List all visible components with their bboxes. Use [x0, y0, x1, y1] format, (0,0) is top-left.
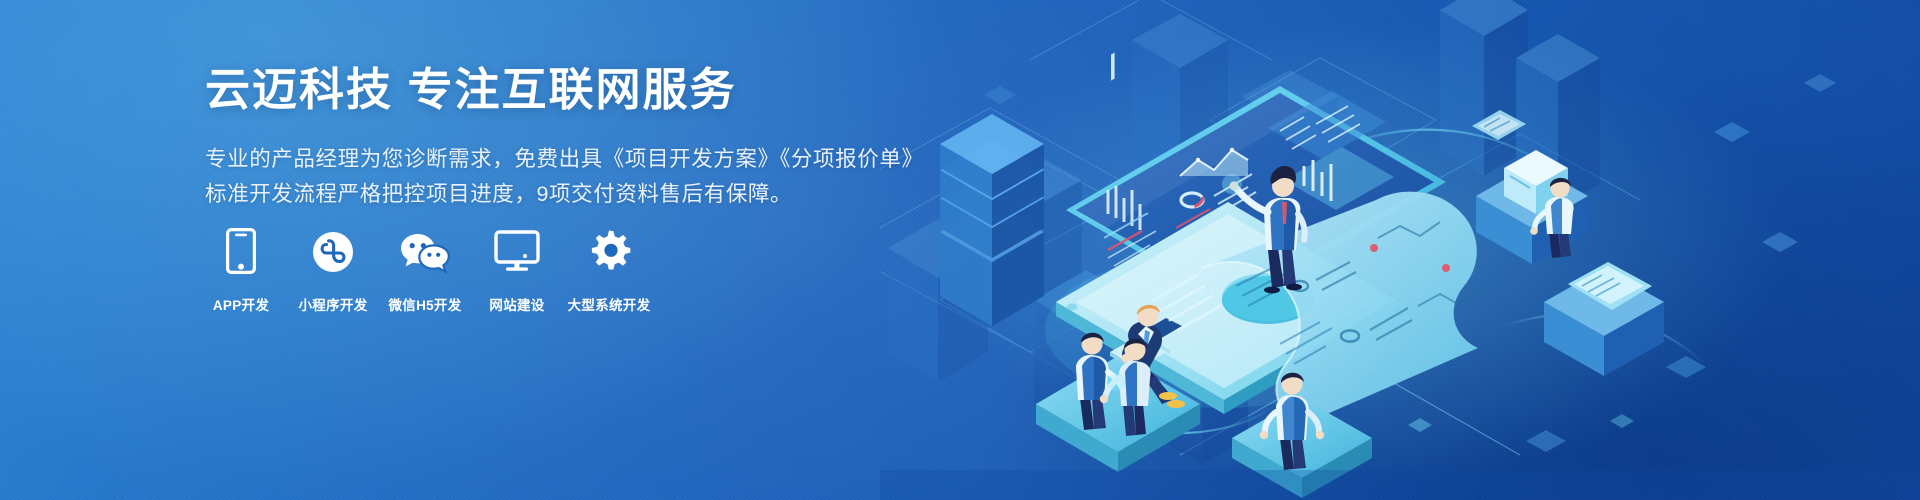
- service-item-system[interactable]: 大型系统开发: [573, 228, 645, 314]
- page-title: 云迈科技 专注互联网服务: [205, 60, 965, 120]
- mobile-phone-icon: [213, 228, 269, 274]
- service-label-wechat: 微信H5开发: [388, 294, 461, 314]
- banner-subtitle: 专业的产品经理为您诊断需求，免费出具《项目开发方案》《分项报价单》 标准开发流程…: [205, 142, 965, 212]
- mini-program-icon: [305, 228, 361, 274]
- service-label-system: 大型系统开发: [568, 294, 651, 314]
- service-item-website[interactable]: 网站建设: [481, 228, 553, 314]
- service-item-miniprogram[interactable]: 小程序开发: [297, 228, 369, 314]
- subtitle-line-2: 标准开发流程严格把控项目进度，9项交付资料售后有保障。: [205, 177, 965, 212]
- hero-banner: 云迈科技 专注互联网服务 专业的产品经理为您诊断需求，免费出具《项目开发方案》《…: [0, 0, 1920, 500]
- banner-copy: 云迈科技 专注互联网服务 专业的产品经理为您诊断需求，免费出具《项目开发方案》《…: [205, 60, 965, 212]
- wechat-icon: [397, 228, 453, 274]
- service-icon-row: APP开发 小程序开发: [205, 228, 645, 314]
- service-item-app[interactable]: APP开发: [205, 228, 277, 314]
- service-item-wechat[interactable]: 微信H5开发: [389, 228, 461, 314]
- service-label-website: 网站建设: [489, 294, 544, 314]
- subtitle-line-1: 专业的产品经理为您诊断需求，免费出具《项目开发方案》《分项报价单》: [205, 142, 965, 177]
- service-label-app: APP开发: [213, 294, 269, 314]
- isometric-technology-illustration: [880, 0, 1920, 500]
- gear-icon: [581, 228, 637, 274]
- service-label-miniprogram: 小程序开发: [299, 294, 368, 314]
- monitor-icon: [489, 228, 545, 274]
